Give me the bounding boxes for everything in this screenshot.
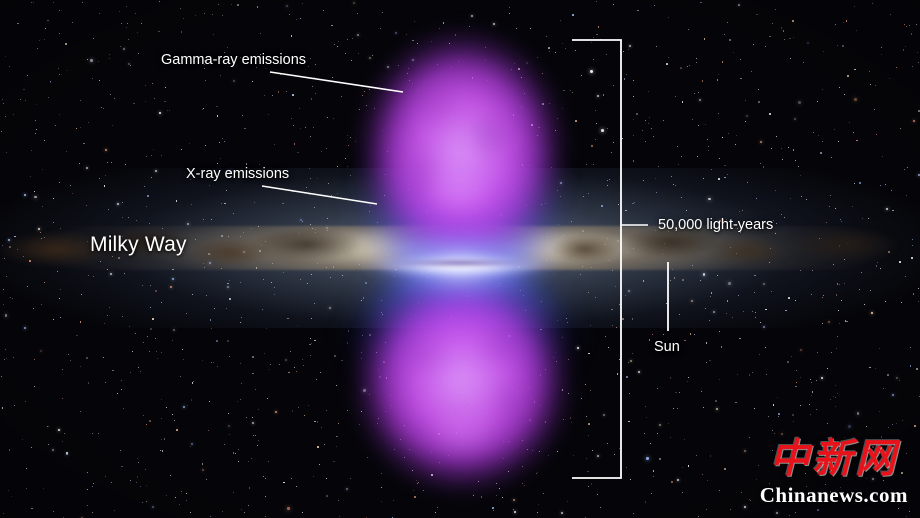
label-xray-emissions: X-ray emissions [186, 166, 289, 182]
label-milky-way: Milky Way [90, 233, 187, 257]
fermi-bubbles-illustration: Gamma-ray emissions X-ray emissions Milk… [0, 0, 920, 518]
label-gamma-ray-emissions: Gamma-ray emissions [161, 52, 306, 68]
gamma-leader-line [270, 72, 403, 92]
watermark-url: Chinanews.com [760, 485, 908, 506]
watermark-chinese-logo: 中新网 [760, 439, 908, 479]
xray-leader-line [262, 186, 377, 204]
watermark: 中新网 Chinanews.com [760, 439, 908, 506]
scale-bracket [572, 40, 621, 478]
label-sun: Sun [654, 339, 680, 355]
label-scale-distance: 50,000 light-years [658, 217, 773, 233]
